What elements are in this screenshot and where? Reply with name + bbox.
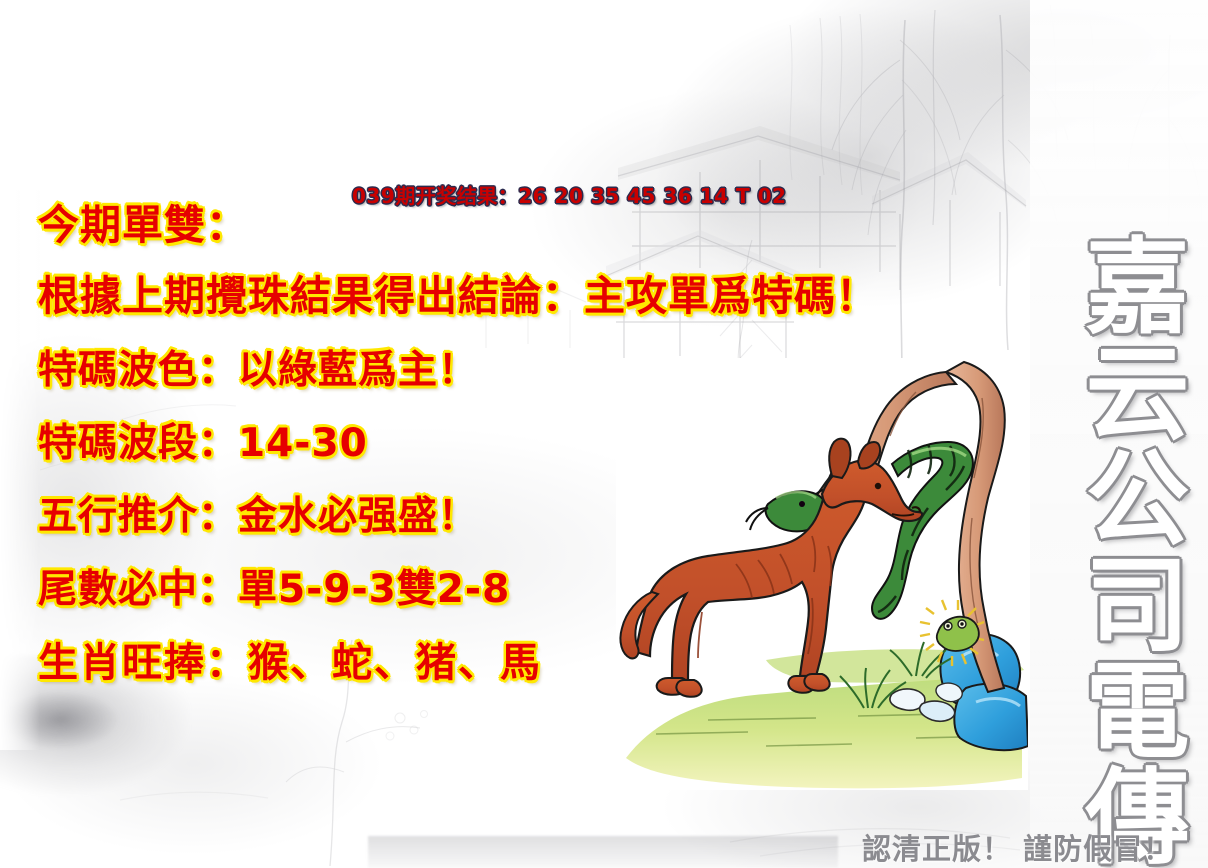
ink-smudge-left-dark: [0, 690, 120, 750]
tip-line-odd-even: 今期單雙：: [38, 205, 938, 246]
tip-line-conclusion: 根據上期攪珠結果得出結論：主攻單爲特碼！: [38, 276, 938, 317]
illustration-panel: [616, 358, 1028, 790]
left-white-fade: [0, 190, 40, 750]
poster-root: 039期开奖结果：26 20 35 45 36 14 T 02 今期單雙： 根據…: [0, 0, 1208, 868]
vertical-company-title: 嘉云公司電傳: [1052, 232, 1178, 868]
bottom-gray-wash: [368, 836, 838, 868]
anti-counterfeit-notice: 認清正版！ 謹防假冒！: [862, 826, 1173, 868]
dog-and-snake-illustration: [616, 358, 1028, 790]
